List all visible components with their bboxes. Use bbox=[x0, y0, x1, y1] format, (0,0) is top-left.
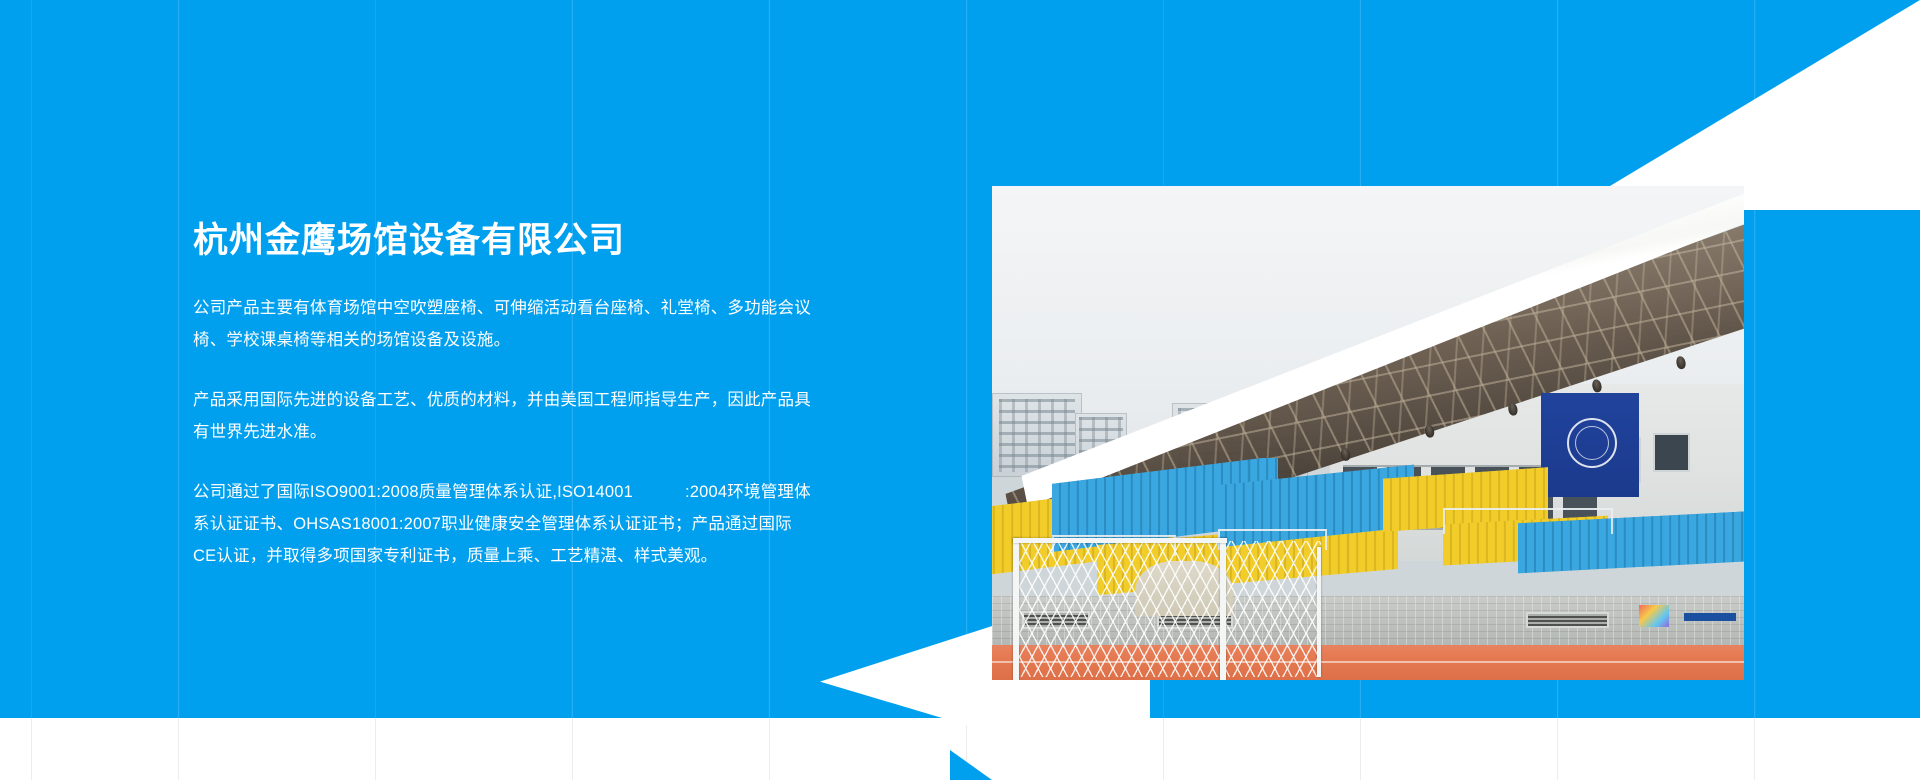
paragraph-products: 公司产品主要有体育场馆中空吹塑座椅、可伸缩活动看台座椅、礼堂椅、多功能会议椅、学… bbox=[193, 292, 813, 356]
stadium-lamp bbox=[1675, 356, 1686, 371]
banner-stage: 杭州金鹰场馆设备有限公司 公司产品主要有体育场馆中空吹塑座椅、可伸缩活动看台座椅… bbox=[0, 0, 1920, 780]
goal-post-right bbox=[1220, 538, 1225, 680]
goal-post-left bbox=[1013, 538, 1018, 680]
wall-poster bbox=[1639, 605, 1669, 627]
soccer-goal bbox=[1007, 532, 1330, 680]
copy-block: 杭州金鹰场馆设备有限公司 公司产品主要有体育场馆中空吹塑座椅、可伸缩活动看台座椅… bbox=[193, 220, 813, 572]
goal-back-post bbox=[1317, 547, 1321, 677]
paragraph-certifications: 公司通过了国际ISO9001:2008质量管理体系认证,ISO14001:200… bbox=[193, 476, 813, 572]
certification-text-part1: 公司通过了国际ISO9001:2008质量管理体系认证,ISO14001 bbox=[193, 483, 633, 501]
wall-vent-3 bbox=[1526, 612, 1609, 628]
stadium-photo bbox=[992, 186, 1744, 680]
paragraph-quality: 产品采用国际先进的设备工艺、优质的材料，并由美国工程师指导生产，因此产品具有世界… bbox=[193, 384, 813, 448]
goal-net bbox=[1017, 541, 1321, 677]
company-headline: 杭州金鹰场馆设备有限公司 bbox=[193, 220, 813, 262]
stadium-lamp bbox=[1508, 401, 1519, 416]
stadium-photo-canvas bbox=[992, 186, 1744, 680]
stadium-lamp bbox=[1424, 424, 1435, 439]
wall-sign bbox=[1684, 613, 1737, 621]
stand-railing-3 bbox=[1443, 508, 1612, 534]
goal-crossbar bbox=[1013, 538, 1226, 543]
stadium-lamp bbox=[1591, 379, 1602, 394]
